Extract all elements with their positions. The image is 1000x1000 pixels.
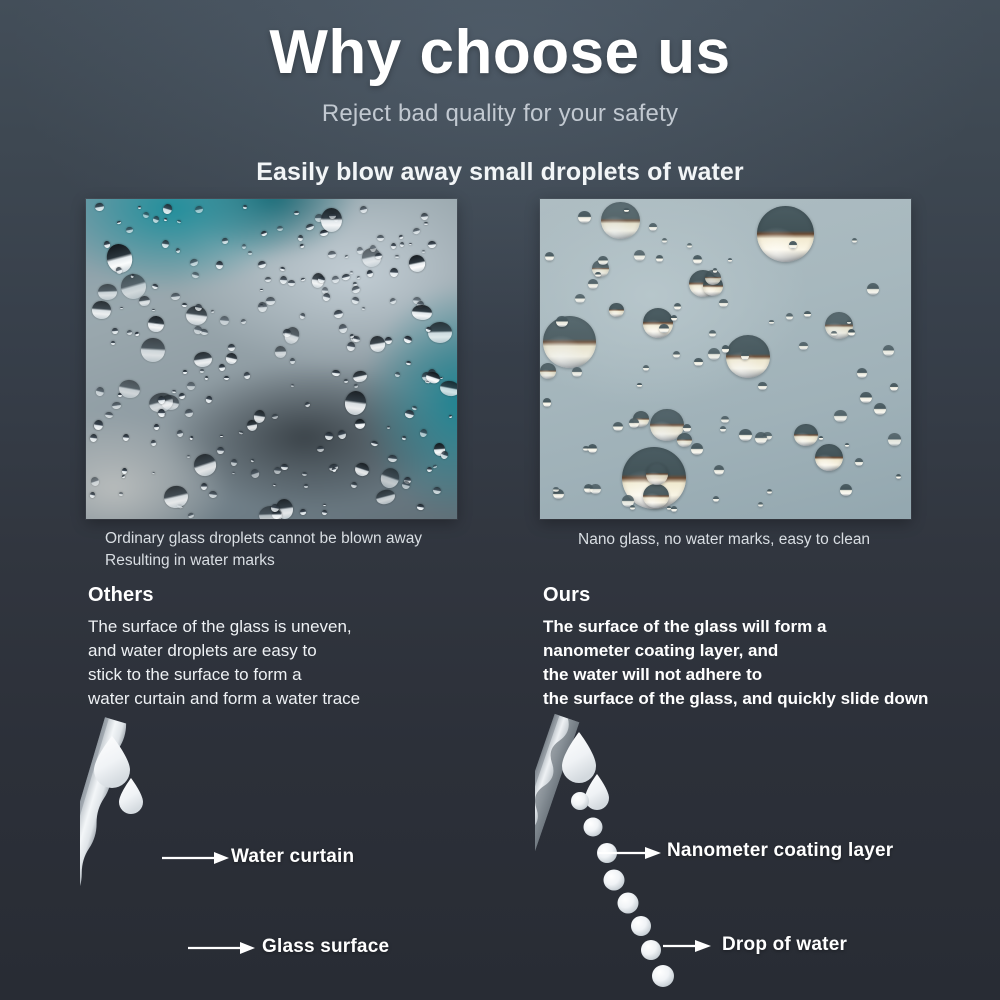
rain-droplet: [185, 408, 194, 418]
rain-droplet: [428, 322, 452, 343]
rain-droplet: [208, 490, 217, 498]
rain-droplet: [122, 434, 129, 441]
water-bead: [767, 489, 772, 494]
rain-droplet: [321, 208, 343, 233]
arrow-right-icon: [162, 852, 229, 864]
water-bead: [629, 418, 639, 428]
water-bead: [643, 484, 669, 509]
caption-line: Nano glass, no water marks, easy to clea…: [578, 529, 870, 551]
rain-droplet: [242, 205, 246, 210]
rain-droplet: [122, 475, 126, 479]
rain-droplet: [403, 335, 413, 344]
rain-droplet: [90, 476, 100, 487]
body-line: The surface of the glass will form a: [543, 615, 973, 639]
rain-droplet: [424, 222, 428, 225]
rain-droplet: [399, 235, 404, 239]
water-bead: [693, 255, 702, 264]
rain-droplet: [409, 243, 412, 246]
water-bead: [677, 433, 692, 447]
water-bead: [674, 303, 681, 310]
water-bead: [857, 368, 867, 377]
rain-droplet: [215, 261, 223, 270]
rain-droplet: [351, 296, 360, 304]
rain-droplet: [400, 242, 405, 247]
rain-droplet: [377, 235, 384, 241]
rain-droplet: [374, 488, 395, 506]
rain-droplet: [249, 468, 260, 479]
water-bead: [630, 505, 636, 511]
rain-droplet: [162, 484, 190, 511]
rain-droplet: [290, 383, 293, 386]
rain-droplet: [257, 260, 267, 269]
rain-droplet: [375, 253, 383, 260]
water-bead: [673, 351, 680, 358]
annotation-label-nanometer-coating-layer: Nanometer coating layer: [667, 840, 893, 862]
rain-droplet: [152, 215, 160, 224]
rain-droplet: [360, 205, 368, 213]
rain-droplet: [186, 455, 189, 458]
rain-droplet: [204, 375, 208, 379]
rain-droplet: [104, 411, 113, 418]
rain-droplet: [432, 486, 441, 494]
water-bead: [634, 250, 645, 261]
water-bead: [758, 502, 763, 507]
rain-droplet: [279, 275, 287, 284]
rain-droplet: [329, 213, 336, 219]
water-bead: [834, 410, 846, 422]
rain-droplet: [125, 226, 132, 233]
rain-droplet: [344, 378, 348, 382]
page-title: Why choose us: [0, 0, 1000, 86]
rain-droplet: [176, 247, 182, 253]
rain-droplet: [300, 278, 304, 282]
rain-droplet: [183, 370, 187, 374]
rain-droplet: [332, 369, 340, 376]
rain-droplet: [122, 468, 128, 475]
water-bead: [709, 330, 716, 337]
rain-droplet: [424, 370, 440, 385]
rain-droplet: [162, 202, 174, 214]
rain-droplet: [266, 297, 275, 305]
rain-droplet: [370, 440, 378, 447]
rain-droplet: [369, 334, 387, 352]
others-column: Others The surface of the glass is uneve…: [88, 584, 508, 711]
rain-droplet: [95, 202, 105, 211]
rain-droplet: [238, 431, 242, 434]
rain-droplet: [395, 371, 401, 377]
water-bead: [741, 352, 749, 360]
rain-droplet: [419, 428, 428, 438]
rain-droplet: [189, 436, 193, 441]
water-bead: [572, 367, 582, 377]
rain-droplet: [116, 221, 121, 225]
nano-beads-layer: [540, 199, 911, 519]
rain-droplet: [384, 337, 391, 345]
ours-column-body: The surface of the glass will form a nan…: [543, 615, 973, 711]
water-bead: [758, 382, 767, 390]
water-bead: [714, 465, 724, 475]
rain-droplet: [417, 503, 424, 510]
water-bead: [545, 252, 554, 261]
rain-droplet: [194, 205, 203, 213]
rain-droplet: [138, 206, 141, 209]
rain-droplet: [350, 481, 357, 488]
rain-droplet: [142, 212, 150, 220]
water-bead: [578, 211, 591, 223]
rain-droplet: [191, 451, 219, 479]
rain-droplet: [440, 450, 449, 460]
annotation-label-water-curtain: Water curtain: [231, 846, 354, 868]
water-bead: [588, 444, 597, 453]
rain-droplet: [134, 332, 139, 337]
rain-droplet: [322, 293, 330, 302]
rain-droplet: [316, 446, 323, 453]
rain-droplet: [407, 253, 426, 273]
rain-droplet: [322, 509, 327, 514]
rain-droplet: [395, 255, 399, 258]
rain-droplet: [289, 358, 294, 364]
annotation-label-drop-of-water: Drop of water: [722, 934, 847, 956]
rain-droplet: [103, 240, 110, 248]
rain-droplet: [337, 429, 347, 440]
rain-droplet: [120, 307, 123, 310]
others-column-body: The surface of the glass is uneven, and …: [88, 615, 508, 711]
rain-droplet: [220, 315, 230, 325]
promo-page: Why choose us Reject bad quality for you…: [0, 0, 1000, 1000]
water-bead: [799, 342, 807, 350]
rain-droplet: [342, 273, 352, 281]
water-bead: [643, 308, 674, 338]
water-bead: [662, 238, 667, 243]
body-line: the water will not adhere to: [543, 663, 973, 687]
rain-droplet: [420, 213, 427, 221]
water-bead: [649, 223, 657, 231]
rain-droplet: [304, 483, 308, 487]
rain-droplet: [271, 414, 278, 420]
rain-droplet: [219, 364, 226, 371]
rain-droplet: [232, 472, 235, 475]
water-bead: [656, 255, 663, 261]
rain-droplet: [228, 343, 235, 351]
water-bead: [855, 458, 863, 466]
water-bead: [713, 496, 720, 502]
rain-droplet: [346, 341, 355, 351]
rain-droplet: [119, 492, 123, 496]
rain-droplet: [248, 251, 252, 255]
rain-droplet: [193, 350, 213, 367]
rain-droplet: [352, 335, 360, 342]
water-bead: [848, 329, 855, 336]
caption-line: Resulting in water marks: [105, 550, 422, 572]
rain-droplet: [231, 458, 238, 466]
water-bead: [687, 243, 692, 248]
rain-droplet: [349, 271, 352, 274]
rain-droplet: [440, 377, 443, 380]
water-bead: [890, 383, 899, 391]
water-bead: [694, 358, 703, 367]
rain-droplet: [439, 379, 457, 398]
rain-droplet: [151, 309, 154, 312]
rain-droplet: [111, 401, 121, 409]
water-bead: [543, 398, 552, 407]
rain-droplets-layer: [86, 199, 457, 519]
water-bead: [757, 206, 814, 262]
ours-column-title: Ours: [543, 584, 973, 607]
rain-droplet: [217, 447, 224, 455]
rain-droplet: [275, 345, 287, 357]
rain-droplet: [411, 304, 432, 320]
water-bead: [840, 484, 853, 496]
rain-droplet: [331, 276, 339, 284]
rain-droplet: [189, 258, 199, 267]
rain-droplet: [151, 440, 157, 446]
water-bead: [590, 484, 600, 494]
rain-droplet: [127, 329, 133, 335]
body-line: the surface of the glass, and quickly sl…: [543, 687, 973, 711]
rain-droplet: [193, 325, 202, 335]
comparison-photo-row: [0, 199, 1000, 519]
rain-droplet: [322, 504, 325, 507]
water-bead: [553, 487, 559, 492]
water-bead: [874, 403, 887, 415]
rain-droplet: [304, 401, 311, 408]
rain-droplet: [94, 419, 104, 430]
body-line: The surface of the glass is uneven,: [88, 615, 508, 639]
arrow-right-icon: [188, 942, 255, 954]
rain-droplet: [98, 284, 117, 300]
rain-droplet: [200, 369, 204, 373]
rain-droplet: [178, 393, 185, 401]
rain-droplet: [300, 243, 305, 248]
rain-droplet: [111, 340, 115, 344]
water-bead: [867, 283, 879, 295]
rain-droplet: [161, 240, 169, 249]
rain-droplet: [288, 280, 295, 286]
rain-droplet: [265, 277, 271, 282]
rain-droplet: [243, 371, 250, 379]
left-photo-caption: Ordinary glass droplets cannot be blown …: [105, 528, 422, 572]
rain-droplet: [390, 268, 399, 277]
rain-droplet: [220, 435, 223, 437]
water-bead: [804, 311, 811, 318]
rain-droplet: [224, 376, 229, 380]
body-line: stick to the surface to form a: [88, 663, 508, 687]
body-line: water curtain and form a water trace: [88, 687, 508, 711]
rain-droplet: [343, 390, 367, 416]
rain-droplet: [328, 251, 336, 259]
rain-droplet: [427, 467, 432, 472]
rain-droplet: [240, 318, 246, 324]
rain-droplet: [140, 337, 165, 362]
ordinary-glass-rain-photo: [86, 199, 457, 519]
rain-droplet: [157, 408, 164, 416]
water-bead: [819, 436, 823, 440]
rain-droplet: [338, 323, 348, 334]
rain-droplet: [90, 433, 98, 442]
rain-droplet: [301, 471, 306, 476]
water-bead: [883, 345, 895, 356]
rain-droplet: [200, 482, 206, 489]
rain-droplet: [91, 300, 111, 319]
water-bead: [588, 279, 598, 289]
rain-droplet: [260, 289, 264, 292]
water-bead: [575, 294, 584, 303]
ours-column: Ours The surface of the glass will form …: [543, 584, 973, 711]
water-bead: [831, 331, 837, 336]
water-bead: [847, 320, 851, 324]
rain-droplet: [182, 303, 187, 308]
rain-droplet: [273, 467, 280, 474]
water-bead: [708, 348, 721, 360]
page-subtitle: Reject bad quality for your safety: [0, 86, 1000, 128]
water-bead: [815, 444, 844, 472]
water-bead: [722, 345, 730, 353]
rain-droplet: [352, 369, 368, 383]
rain-droplet: [147, 315, 165, 333]
rain-droplet: [333, 309, 343, 319]
water-bead: [601, 202, 640, 240]
rain-droplet: [387, 454, 396, 462]
water-bead: [691, 443, 704, 455]
caption-line: Ordinary glass droplets cannot be blown …: [105, 528, 422, 550]
rain-droplet: [298, 235, 304, 241]
rain-droplet: [293, 211, 298, 215]
rain-droplet: [172, 390, 176, 394]
water-bead: [671, 506, 678, 512]
water-bead: [637, 383, 642, 388]
rain-droplet: [353, 462, 370, 479]
water-bead-group: [571, 792, 674, 987]
rain-droplet: [112, 327, 118, 333]
water-bead: [769, 320, 773, 324]
rain-droplet: [281, 464, 288, 470]
rain-droplet: [192, 271, 200, 278]
water-bead: [739, 429, 752, 441]
water-bead: [896, 474, 901, 479]
water-bead: [786, 313, 793, 320]
rain-droplet: [225, 352, 238, 365]
section-heading: Easily blow away small droplets of water: [0, 128, 1000, 187]
rain-droplet: [355, 418, 366, 429]
rain-droplet: [404, 409, 414, 419]
water-bead: [721, 416, 728, 423]
rain-droplet: [300, 508, 307, 514]
water-bead: [609, 303, 624, 317]
rain-droplet: [405, 361, 410, 366]
water-bead: [595, 272, 601, 277]
rain-droplet: [305, 223, 315, 231]
rain-droplet: [257, 301, 266, 312]
rain-droplet: [222, 238, 228, 244]
water-bead: [860, 392, 872, 404]
page-header: Why choose us Reject bad quality for you…: [0, 0, 1000, 187]
rain-droplet: [366, 269, 374, 278]
rain-droplet: [154, 423, 160, 429]
rain-droplet: [277, 225, 284, 231]
rain-droplet: [433, 465, 438, 469]
body-line: and water droplets are easy to: [88, 639, 508, 663]
rain-droplet: [401, 436, 406, 441]
rain-droplet: [389, 297, 397, 305]
water-bead: [671, 315, 678, 322]
right-photo-caption: Nano glass, no water marks, easy to clea…: [578, 529, 870, 551]
water-bead: [755, 432, 768, 444]
water-bead: [720, 426, 727, 432]
rain-droplet: [357, 276, 361, 280]
rain-droplet: [391, 243, 396, 249]
water-bead: [643, 365, 649, 371]
rain-droplet: [324, 431, 333, 440]
rain-droplet: [299, 312, 306, 319]
rain-droplet: [241, 244, 245, 249]
rain-droplet: [95, 386, 105, 396]
rain-droplet: [176, 430, 183, 438]
water-bead: [540, 363, 556, 379]
water-bead: [543, 316, 597, 368]
water-bead: [683, 424, 691, 432]
rain-droplet: [361, 306, 365, 309]
rain-droplet: [211, 309, 214, 312]
rain-droplet: [177, 219, 181, 223]
nano-glass-beads-photo: [540, 199, 911, 519]
water-bead: [713, 268, 718, 272]
water-bead: [845, 443, 849, 447]
water-bead: [728, 258, 732, 262]
rain-droplet: [354, 383, 358, 388]
rain-droplet: [280, 266, 286, 271]
others-column-title: Others: [88, 584, 508, 607]
rain-droplet: [412, 405, 418, 410]
arrow-right-icon: [663, 940, 711, 952]
water-bead: [719, 299, 728, 308]
rain-droplet: [387, 426, 390, 429]
rain-droplet: [345, 254, 349, 257]
water-bead: [888, 433, 901, 445]
water-bead: [794, 424, 818, 447]
rain-droplet: [412, 227, 421, 235]
rain-droplet: [378, 466, 401, 491]
body-line: nanometer coating layer, and: [543, 639, 973, 663]
rain-droplet: [89, 491, 95, 497]
rain-droplet: [422, 250, 425, 253]
rain-droplet: [273, 484, 276, 487]
rain-droplet: [370, 245, 377, 252]
annotation-label-glass-surface: Glass surface: [262, 936, 389, 958]
rain-droplet: [260, 230, 267, 236]
rain-droplet: [449, 415, 452, 419]
rain-droplet: [171, 292, 180, 300]
rain-droplet: [187, 382, 195, 390]
rain-droplet: [164, 217, 167, 221]
rain-droplet: [250, 459, 254, 462]
water-bead: [852, 238, 857, 243]
rain-droplet: [206, 395, 214, 403]
water-bead: [613, 422, 623, 431]
rain-droplet: [351, 285, 361, 294]
rain-droplet: [152, 472, 156, 475]
rain-droplet: [151, 283, 159, 290]
rain-droplet: [428, 241, 436, 248]
rain-droplet: [187, 512, 194, 519]
rain-droplet: [317, 275, 325, 284]
rain-droplet: [139, 295, 151, 307]
